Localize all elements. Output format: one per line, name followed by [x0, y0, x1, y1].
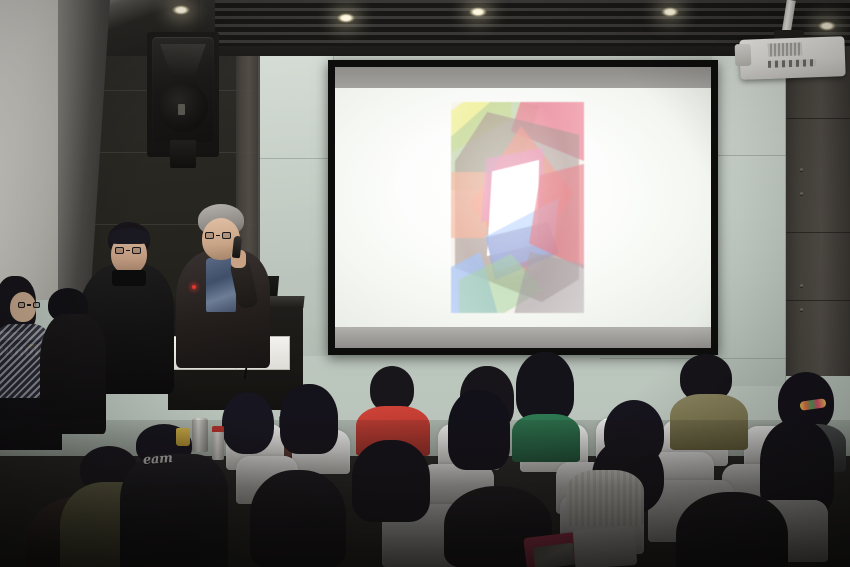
wall-seam-1	[258, 158, 336, 159]
row-b-1-hair	[280, 384, 338, 454]
thermos-flask	[192, 418, 208, 452]
water-bottle	[212, 430, 224, 460]
green-top-body	[512, 414, 580, 462]
screen-glare	[335, 88, 711, 327]
paper-cup	[176, 428, 190, 446]
white-knit-body	[566, 470, 644, 526]
speaker-translator-fringe	[109, 228, 149, 244]
pa-speaker-bracket	[170, 140, 196, 168]
lecture-hall-photo: eam	[0, 0, 850, 567]
downlight-1	[172, 5, 190, 15]
wall-panel-2	[712, 56, 786, 386]
speaker-translator-glasses-icon	[115, 247, 141, 254]
speaker-presenter-glasses-icon	[205, 232, 231, 239]
downlight-5	[818, 21, 836, 31]
mobile-phone-screen[interactable]	[533, 543, 575, 567]
row-c-1-hair	[352, 440, 430, 522]
jacket-script-text: eam	[143, 451, 174, 468]
screen-bottom-band	[335, 326, 711, 348]
projector-lens-icon	[735, 44, 752, 67]
downlight-4	[661, 7, 679, 17]
front-left-hair	[250, 470, 346, 567]
green-top-hair	[516, 352, 574, 422]
front-right-hair	[676, 492, 788, 567]
control-desk-person-glasses-icon	[18, 302, 40, 308]
water-bottle-cap	[212, 426, 224, 432]
wall-pillar-right	[786, 46, 850, 376]
wall-seam-2	[712, 155, 788, 156]
standing-dark-body	[40, 314, 106, 434]
projection-screen[interactable]	[335, 88, 711, 327]
row-b-3-hair	[448, 390, 510, 470]
downlight-3	[469, 7, 487, 17]
white-tablet[interactable]	[573, 526, 638, 567]
projector-vent-icon	[768, 42, 802, 56]
speaker-translator-collar	[112, 270, 146, 286]
jacket-text-body	[120, 454, 228, 567]
pa-speaker-badge	[178, 104, 185, 115]
row-b-2-hair	[222, 392, 274, 454]
olive-jacket-body	[670, 394, 748, 450]
downlight-2	[337, 13, 355, 23]
mic-status-led	[192, 285, 196, 289]
screen-top-band	[335, 67, 711, 89]
